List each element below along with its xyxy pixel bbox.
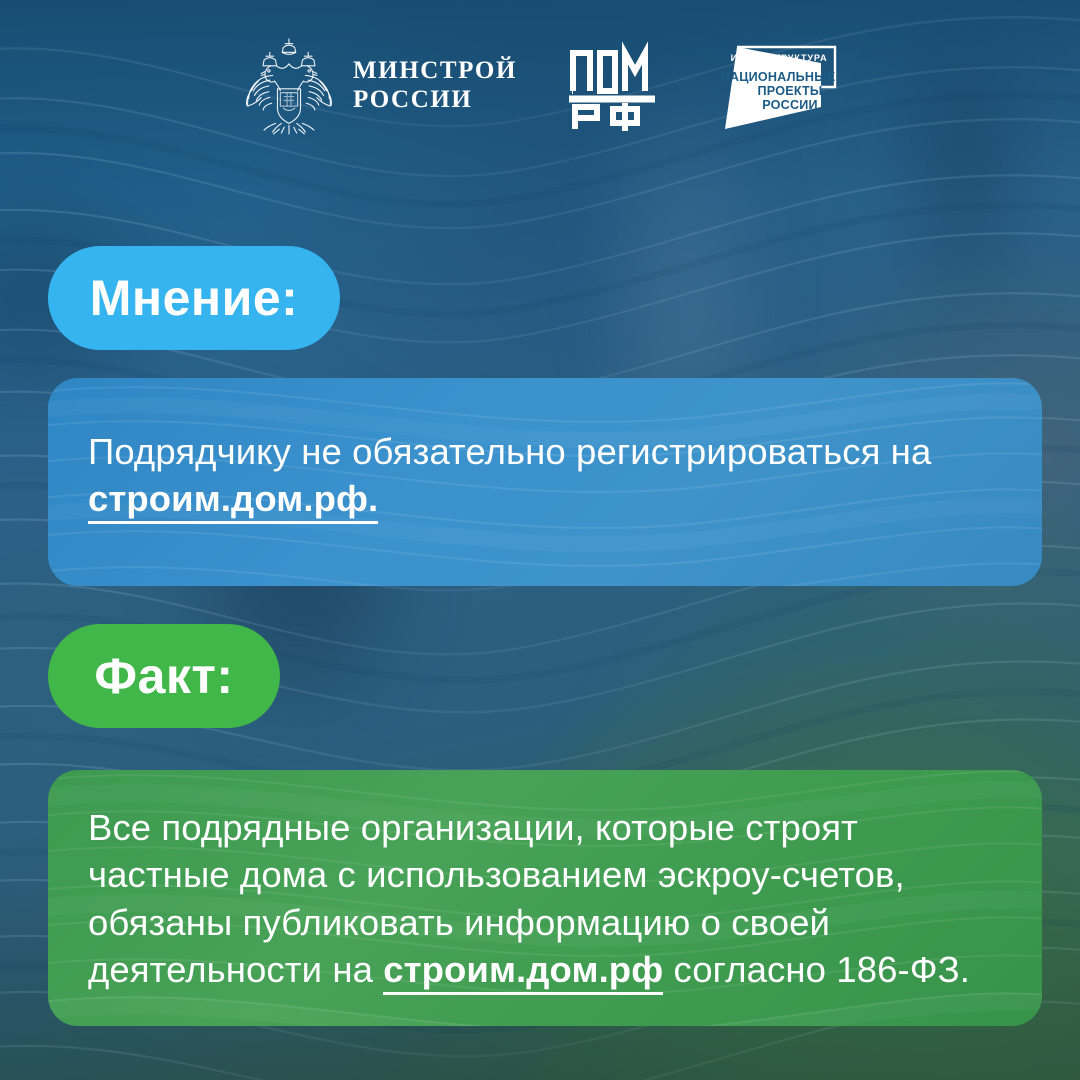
minstroy-line-1: МИНСТРОЙ xyxy=(353,56,517,86)
fact-highlight-link: строим.дом.рф xyxy=(383,949,663,995)
np-kicker-text: ИНФРАСТРУКТУРА xyxy=(731,53,828,63)
minstroy-wordmark: МИНСТРОЙ РОССИИ xyxy=(353,56,517,115)
dom-rf-logo-icon xyxy=(563,39,661,131)
logo-dom-rf xyxy=(563,39,661,131)
infographic-poster: МИНСТРОЙ РОССИИ xyxy=(0,0,1080,1080)
np-line-3-text: РОССИИ xyxy=(762,98,818,112)
opinion-badge-label: Мнение: xyxy=(90,269,299,327)
opinion-card: Подрядчику не обязательно регистрировать… xyxy=(48,378,1042,586)
minstroy-line-2: РОССИИ xyxy=(353,85,517,115)
national-projects-logo-icon: ИНФРАСТРУКТУРА НАЦИОНАЛЬНЫЕ ПРОЕКТЫ РОСС… xyxy=(717,33,839,137)
fact-text: Все подрядные организации, которые строя… xyxy=(48,770,1042,994)
logo-national-projects: ИНФРАСТРУКТУРА НАЦИОНАЛЬНЫЕ ПРОЕКТЫ РОСС… xyxy=(717,33,839,137)
fact-card: Все подрядные организации, которые строя… xyxy=(48,770,1042,1026)
opinion-highlight-link: строим.дом.рф. xyxy=(88,478,378,524)
fact-badge-label: Факт: xyxy=(94,647,233,705)
opinion-text: Подрядчику не обязательно регистрировать… xyxy=(48,378,1042,523)
opinion-text-before: Подрядчику не обязательно регистрировать… xyxy=(88,431,931,472)
opinion-badge: Мнение: xyxy=(48,246,340,350)
fact-text-after: согласно 186-ФЗ. xyxy=(663,949,970,990)
logo-minstroy-rossii: МИНСТРОЙ РОССИИ xyxy=(241,35,517,135)
russian-coat-of-arms-icon xyxy=(241,35,337,135)
np-line-1-text: НАЦИОНАЛЬНЫЕ xyxy=(721,70,836,84)
np-line-2-text: ПРОЕКТЫ xyxy=(758,84,823,98)
logo-bar: МИНСТРОЙ РОССИИ xyxy=(0,0,1080,170)
fact-badge: Факт: xyxy=(48,624,280,728)
